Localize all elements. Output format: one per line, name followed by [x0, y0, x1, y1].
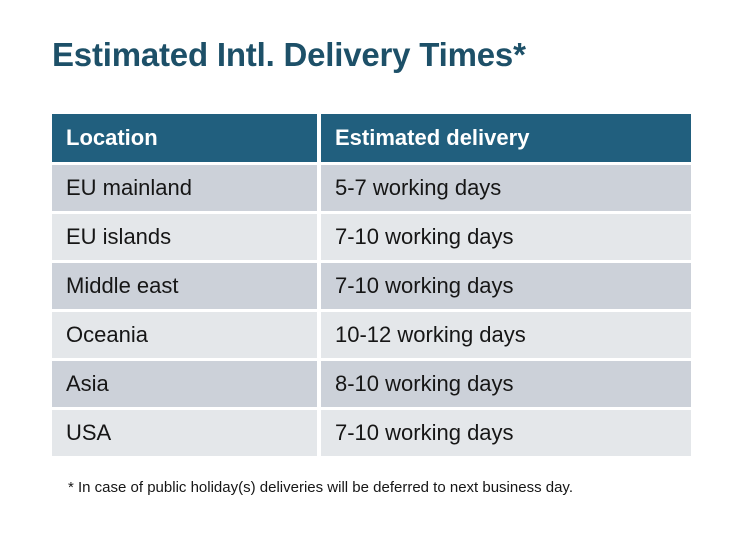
page-title: Estimated Intl. Delivery Times*	[52, 36, 526, 74]
table-row: Asia 8-10 working days	[52, 361, 691, 407]
cell-location: EU mainland	[52, 165, 317, 211]
cell-location: Middle east	[52, 263, 317, 309]
cell-location: EU islands	[52, 214, 317, 260]
table-row: Oceania 10-12 working days	[52, 312, 691, 358]
cell-estimated-delivery: 7-10 working days	[321, 263, 691, 309]
cell-estimated-delivery: 7-10 working days	[321, 410, 691, 456]
table-row: EU islands 7-10 working days	[52, 214, 691, 260]
table-row: USA 7-10 working days	[52, 410, 691, 456]
cell-estimated-delivery: 10-12 working days	[321, 312, 691, 358]
cell-location: Oceania	[52, 312, 317, 358]
table-row: Middle east 7-10 working days	[52, 263, 691, 309]
table-row: EU mainland 5-7 working days	[52, 165, 691, 211]
delivery-times-table: Location Estimated delivery EU mainland …	[52, 114, 691, 456]
footnote: * In case of public holiday(s) deliverie…	[68, 479, 573, 496]
column-header-location: Location	[52, 114, 317, 162]
cell-estimated-delivery: 8-10 working days	[321, 361, 691, 407]
cell-estimated-delivery: 7-10 working days	[321, 214, 691, 260]
delivery-times-page: Estimated Intl. Delivery Times* Location…	[0, 0, 745, 536]
cell-estimated-delivery: 5-7 working days	[321, 165, 691, 211]
table-header-row: Location Estimated delivery	[52, 114, 691, 162]
cell-location: USA	[52, 410, 317, 456]
column-header-estimated-delivery: Estimated delivery	[321, 114, 691, 162]
cell-location: Asia	[52, 361, 317, 407]
